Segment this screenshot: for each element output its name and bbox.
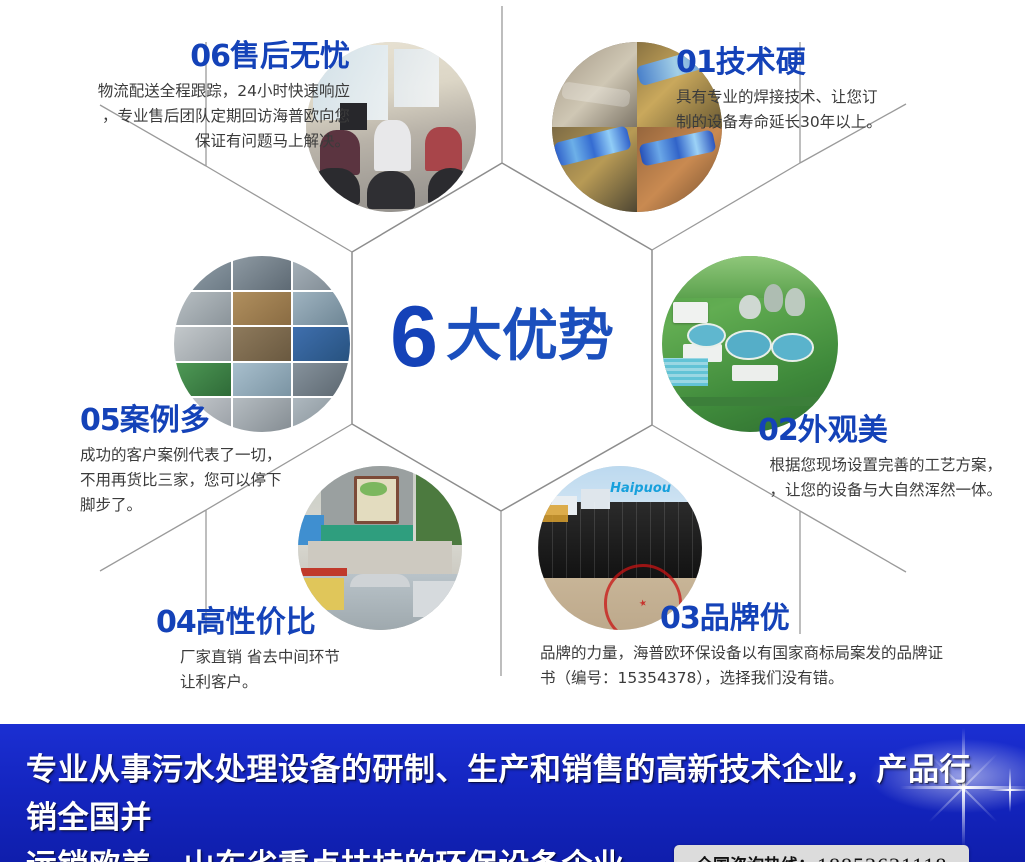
advantage-02-number: 02 [758,413,798,448]
advantage-01-title: 技术硬 [716,45,806,80]
center-text: 大优势 [446,309,614,365]
advantage-02-block: 02外观美 根据您现场设置完善的工艺方案， ，让您的设备与大自然浑然一体。 [640,414,1002,503]
advantage-05-line-3: 脚步了。 [80,493,410,518]
advantage-02-body: 根据您现场设置完善的工艺方案， ，让您的设备与大自然浑然一体。 [640,453,1002,503]
advantage-02-line-1: 根据您现场设置完善的工艺方案， [640,453,1002,478]
advantage-04-heading: 04高性价比 [156,606,486,640]
advantage-01-block: 01技术硬 具有专业的焊接技术、让您订 制的设备寿命延长30年以上。 [676,46,1006,135]
aerial-plant-photo [662,256,838,432]
advantage-03-line-2: 书（编号：15354378），选择我们没有错。 [540,666,1010,691]
advantage-05-title: 案例多 [120,403,210,438]
advantage-05-heading: 05案例多 [80,404,410,438]
advantage-01-body: 具有专业的焊接技术、让您订 制的设备寿命延长30年以上。 [676,85,1006,135]
advantage-02-heading: 02外观美 [640,414,1002,448]
bottom-banner: 专业从事污水处理设备的研制、生产和销售的高新技术企业，产品行销全国并 远销欧美，… [0,724,1025,862]
advantage-04-block: 04高性价比 厂家直销 省去中间环节 让利客户。 [156,606,486,695]
advantage-01-heading: 01技术硬 [676,46,1006,80]
advantage-04-title: 高性价比 [196,605,316,640]
sparkle-small-icon [988,768,1025,812]
advantage-03-number: 03 [660,601,700,636]
banner-line-2-row: 远销欧美，山东省重点扶持的环保设备企业。 全国咨询热线： 18853631118 [26,842,976,862]
advantage-06-line-1: 物流配送全程跟踪，24小时快速响应 [10,79,350,104]
banner-line-1: 专业从事污水处理设备的研制、生产和销售的高新技术企业，产品行销全国并 [26,746,976,842]
advantage-06-body: 物流配送全程跟踪，24小时快速响应 ，专业售后团队定期回访海普欧向您 保证有问题… [10,79,350,154]
advantage-06-title: 售后无忧 [230,39,350,74]
infographic-root: 6 大优势 [0,0,1025,862]
advantage-05-line-1: 成功的客户案例代表了一切， [80,443,410,468]
advantage-06-line-2: ，专业售后团队定期回访海普欧向您 [10,104,350,129]
advantage-01-line-1: 具有专业的焊接技术、让您订 [676,85,1006,110]
advantage-06-line-3: 保证有问题马上解决。 [10,129,350,154]
advantage-04-line-2: 让利客户。 [180,670,486,695]
advantage-03-body: 品牌的力量，海普欧环保设备以有国家商标局案发的品牌证 书（编号：15354378… [540,641,1010,691]
advantage-01-number: 01 [676,45,716,80]
banner-text: 专业从事污水处理设备的研制、生产和销售的高新技术企业，产品行销全国并 远销欧美，… [26,746,976,862]
advantage-06-block: 06售后无忧 物流配送全程跟踪，24小时快速响应 ，专业售后团队定期回访海普欧向… [10,40,350,154]
advantage-04-number: 04 [156,605,196,640]
banner-line-2: 远销欧美，山东省重点扶持的环保设备企业。 [26,842,656,862]
advantage-06-number: 06 [190,39,230,74]
center-label: 6 大优势 [352,282,652,392]
advantage-06-heading: 06售后无忧 [10,40,350,74]
hotline-number: 18853631118 [817,849,947,862]
advantage-03-title: 品牌优 [700,601,790,636]
hotline-label: 全国咨询热线： [696,853,815,862]
advantage-02-title: 外观美 [798,413,888,448]
advantage-05-line-2: 不用再货比三家，您可以停下 [80,468,410,493]
advantage-04-body: 厂家直销 省去中间环节 让利客户。 [156,645,486,695]
advantage-01-line-2: 制的设备寿命延长30年以上。 [676,110,1006,135]
advantage-03-heading: 03品牌优 [540,602,1010,636]
advantage-05-block: 05案例多 成功的客户案例代表了一切， 不用再货比三家，您可以停下 脚步了。 [80,404,410,518]
advantage-05-number: 05 [80,403,120,438]
advantage-03-line-1: 品牌的力量，海普欧环保设备以有国家商标局案发的品牌证 [540,641,1010,666]
advantage-03-block: 03品牌优 品牌的力量，海普欧环保设备以有国家商标局案发的品牌证 书（编号：15… [540,602,1010,691]
center-number: 6 [390,294,436,380]
advantage-02-line-2: ，让您的设备与大自然浑然一体。 [640,478,1002,503]
hotline-badge[interactable]: 全国咨询热线： 18853631118 [674,845,969,862]
advantage-04-line-1: 厂家直销 省去中间环节 [180,645,486,670]
advantage-05-body: 成功的客户案例代表了一切， 不用再货比三家，您可以停下 脚步了。 [80,443,410,518]
